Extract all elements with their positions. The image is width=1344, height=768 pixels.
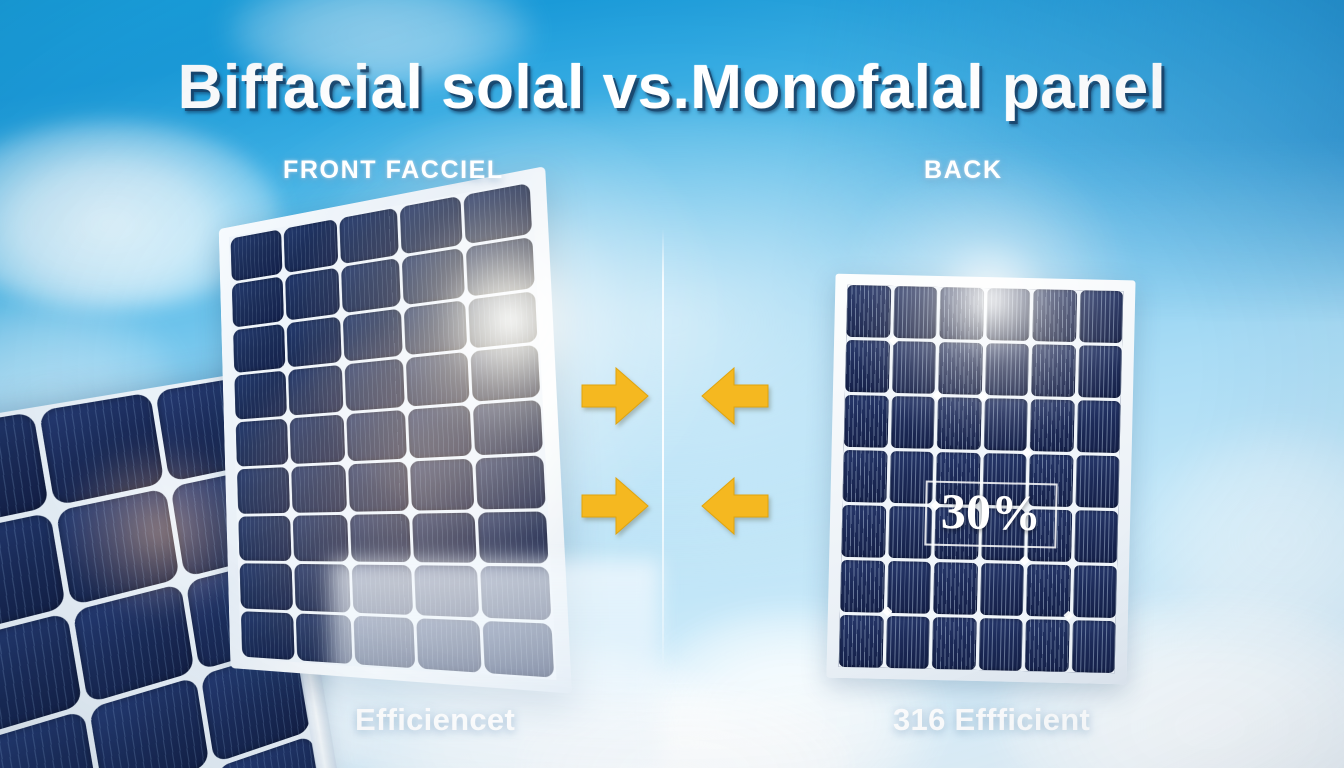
solar-cell [886, 561, 931, 614]
solar-cell [241, 611, 294, 660]
page-title: Biffacial solal vs.Monofalal panel [0, 52, 1344, 123]
center-divider [662, 228, 664, 670]
solar-cell [986, 288, 1031, 341]
solar-cell [346, 410, 406, 461]
arrow-left-bottom-icon [700, 475, 770, 542]
right-panel-cellgrid [839, 285, 1124, 673]
solar-cell [1031, 344, 1076, 397]
solar-cell [345, 359, 405, 412]
solar-cell [285, 267, 340, 320]
solar-cell [471, 345, 540, 402]
solar-cell [1077, 345, 1122, 398]
solar-cell [1032, 289, 1077, 342]
solar-cell [937, 397, 982, 450]
solar-cell [1075, 455, 1120, 508]
solar-cell [473, 400, 543, 455]
solar-cell [230, 229, 282, 281]
solar-cell [933, 562, 978, 615]
solar-cell [1072, 565, 1117, 618]
solar-cell [932, 617, 977, 670]
solar-cell [283, 219, 338, 273]
solar-cell [412, 512, 477, 563]
solar-cell [891, 341, 936, 394]
label-efficiency-left: Efficiencet [355, 702, 515, 738]
arrow-right-top-icon [580, 365, 650, 432]
solar-cell [478, 511, 549, 564]
solar-cell [885, 616, 930, 669]
solar-cell [464, 183, 532, 244]
solar-cell [410, 459, 475, 511]
solar-cell [348, 462, 409, 512]
solar-cell [984, 343, 1029, 396]
solar-cell [893, 286, 938, 339]
solar-cell [291, 464, 347, 512]
solar-cell [476, 455, 546, 509]
label-efficiency-right: 316 Effficient [893, 702, 1090, 738]
solar-cell [839, 615, 884, 668]
solar-cell [339, 208, 398, 264]
panel-glass-right [839, 285, 1124, 673]
solar-cell [234, 371, 286, 420]
infographic-canvas: 30% Biffacial solal vs.Monofalal panel F… [0, 0, 1344, 768]
solar-cell [983, 398, 1028, 451]
solar-cell [890, 396, 935, 449]
solar-cell [288, 365, 344, 416]
solar-cell [1030, 399, 1075, 452]
solar-cell [401, 247, 465, 304]
solar-cell [846, 285, 891, 338]
arrow-right-bottom-icon [580, 475, 650, 542]
solar-cell [979, 563, 1024, 616]
solar-cell [406, 352, 470, 407]
solar-cell [844, 395, 889, 448]
solar-cell [341, 258, 400, 313]
solar-cell [232, 276, 284, 327]
solar-cell [1074, 510, 1119, 563]
solar-cell [289, 415, 345, 464]
efficiency-badge: 30% [924, 481, 1057, 548]
solar-cell [466, 237, 535, 297]
solar-cell [1025, 619, 1070, 672]
solar-cell [238, 515, 291, 561]
monofacial-panel-back [826, 274, 1135, 685]
solar-cell [845, 340, 890, 393]
solar-cell [1076, 400, 1121, 453]
solar-cell [403, 300, 467, 356]
solar-cell [842, 450, 887, 503]
solar-cell [38, 392, 165, 506]
solar-cell [237, 467, 290, 514]
solar-cell [399, 196, 462, 255]
solar-cell [350, 513, 411, 562]
solar-cell [286, 316, 342, 368]
label-front-facciel: FRONT FACCIEL [283, 156, 504, 185]
arrow-left-top-icon [700, 365, 770, 432]
solar-cell [938, 342, 983, 395]
solar-cell [233, 323, 285, 373]
solar-cell [343, 308, 403, 362]
solar-cell [939, 287, 984, 340]
solar-cell [240, 564, 293, 611]
solar-cell [840, 560, 885, 613]
solar-cell [1071, 620, 1116, 673]
solar-cell [978, 618, 1023, 671]
solar-cell [1026, 564, 1071, 617]
solar-cell [1079, 290, 1124, 343]
solar-cell [236, 419, 289, 467]
solar-cell [292, 514, 349, 562]
solar-cell [468, 291, 537, 349]
label-back: BACK [924, 156, 1003, 185]
panel-frame-right [826, 274, 1135, 685]
solar-cell [408, 405, 473, 458]
solar-cell [841, 505, 886, 558]
